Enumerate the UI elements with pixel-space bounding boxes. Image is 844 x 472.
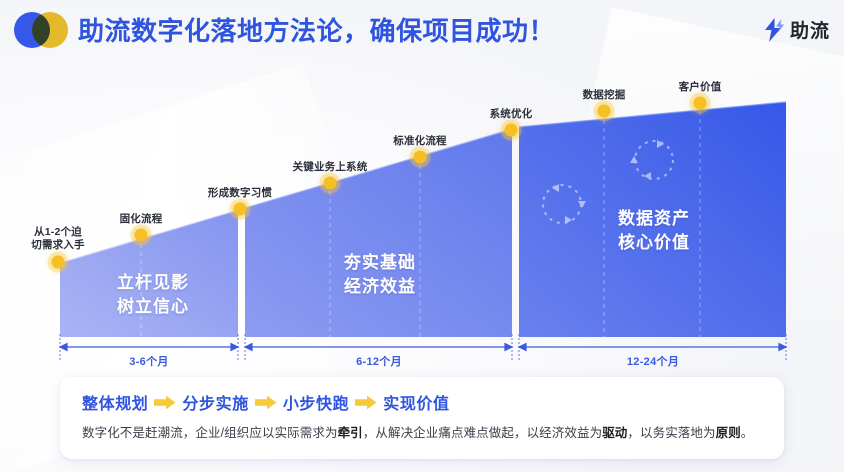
- summary-emphasis: 原则: [716, 426, 741, 440]
- timeline-label-phase-3: 12-24个月: [627, 353, 679, 369]
- milestone-label-5: 标准化流程: [393, 135, 447, 148]
- timeline-label-phase-1: 3-6个月: [129, 353, 168, 369]
- milestone-label-line: 形成数字习惯: [208, 187, 272, 200]
- process-step-2: 分步实施: [182, 390, 248, 414]
- milestone-label-line: 客户价值: [679, 81, 722, 94]
- milestone-dot[interactable]: [135, 229, 148, 242]
- process-step-4: 实现价值: [383, 390, 449, 414]
- milestone-label-line: 关键业务上系统: [293, 161, 368, 174]
- phase-title-line: 数据资产: [618, 207, 690, 231]
- milestone-label-7: 数据挖掘: [583, 89, 626, 102]
- phase-title-line: 核心价值: [618, 231, 690, 255]
- milestone-dot[interactable]: [598, 105, 611, 118]
- process-step-1: 整体规划: [82, 390, 148, 414]
- phase-title-line: 树立信心: [117, 295, 189, 319]
- staircase-ramp-chart: 从1-2个迫 切需求入手 固化流程 形成数字习惯 关键业务上系统 标准化流程 系…: [0, 62, 844, 352]
- summary-emphasis: 驱动: [602, 426, 627, 440]
- brand-lockup: 助流: [762, 16, 830, 43]
- logo-circle-yellow: [32, 12, 68, 48]
- milestone-dot[interactable]: [694, 97, 707, 110]
- brand-name: 助流: [790, 16, 830, 43]
- phase-title-3: 数据资产 核心价值: [618, 207, 690, 255]
- milestone-label-line: 从1-2个迫: [31, 226, 85, 239]
- milestone-label-line: 固化流程: [120, 213, 163, 226]
- phase-title-line: 经济效益: [344, 275, 416, 299]
- process-steps: 整体规划 分步实施 小步快跑 实现价值: [82, 390, 450, 414]
- phase-title-2: 夯实基础 经济效益: [344, 251, 416, 299]
- milestone-label-6: 系统优化: [490, 108, 533, 121]
- summary-text: 数字化不是赶潮流，企业/组织应以实际需求为牵引，从解决企业痛点难点做起，以经济效…: [82, 423, 766, 443]
- milestone-dot[interactable]: [52, 256, 65, 269]
- phase-title-line: 立杆见影: [117, 271, 189, 295]
- right-arrow-icon: [355, 395, 377, 410]
- process-step-3: 小步快跑: [283, 390, 349, 414]
- phase-title-line: 夯实基础: [344, 251, 416, 275]
- milestone-label-line: 数据挖掘: [583, 89, 626, 102]
- timeline-axis: 3-6个月 6-12个月 12-24个月: [0, 330, 844, 374]
- summary-part: ，从解决企业痛点难点做起，以经济效益为: [363, 426, 602, 440]
- milestone-label-line: 切需求入手: [31, 239, 85, 252]
- milestone-label-line: 系统优化: [490, 108, 533, 121]
- milestone-label-2: 固化流程: [120, 213, 163, 226]
- slide-header: 助流数字化落地方法论，确保项目成功！ 助流: [0, 0, 844, 62]
- milestone-label-1: 从1-2个迫 切需求入手: [31, 226, 85, 252]
- summary-part: 。: [741, 426, 754, 440]
- milestone-dot[interactable]: [414, 151, 427, 164]
- milestone-label-8: 客户价值: [679, 81, 722, 94]
- right-arrow-icon: [154, 395, 176, 410]
- lightning-bolt-icon: [762, 17, 786, 43]
- summary-card: 整体规划 分步实施 小步快跑 实现价值 数字化不是赶潮流，企业/组织应以实际需求…: [60, 377, 784, 459]
- milestone-label-3: 形成数字习惯: [208, 187, 272, 200]
- phase-title-1: 立杆见影 树立信心: [117, 271, 189, 319]
- page-title: 助流数字化落地方法论，确保项目成功！: [78, 11, 555, 48]
- milestone-label-line: 标准化流程: [393, 135, 447, 148]
- milestone-dot[interactable]: [324, 177, 337, 190]
- right-arrow-icon: [255, 395, 277, 410]
- timeline-label-phase-2: 6-12个月: [356, 353, 402, 369]
- timeline-arrows: [0, 330, 844, 374]
- milestone-label-4: 关键业务上系统: [293, 161, 368, 174]
- two-overlapping-circles-logo-icon: [14, 12, 68, 48]
- summary-emphasis: 牵引: [338, 426, 363, 440]
- summary-part: ，以务实落地为: [627, 426, 715, 440]
- milestone-dot[interactable]: [234, 203, 247, 216]
- slide-root: 助流数字化落地方法论，确保项目成功！ 助流: [0, 0, 844, 472]
- summary-part: 数字化不是赶潮流，企业/组织应以实际需求为: [82, 426, 338, 440]
- milestone-dot[interactable]: [505, 124, 518, 137]
